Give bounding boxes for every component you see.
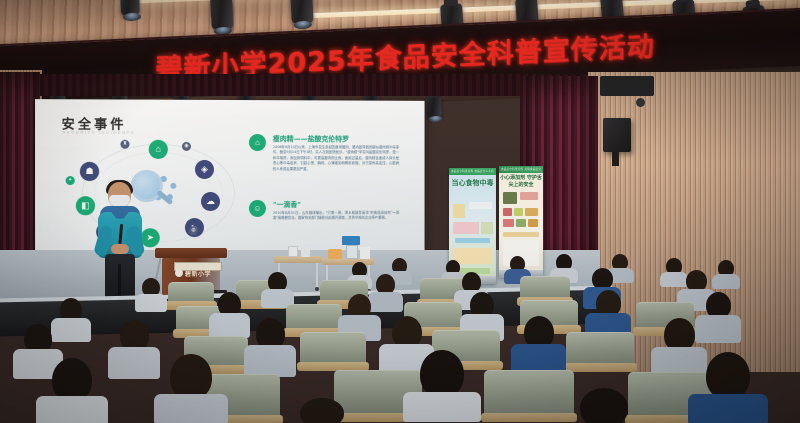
audience-area bbox=[0, 258, 800, 423]
rollup-header-bar: 食品安全科普宣传 食品安全人人有责 bbox=[449, 168, 496, 175]
student-body bbox=[244, 345, 296, 377]
student-head bbox=[420, 350, 464, 398]
stage-light bbox=[120, 0, 140, 16]
star-icon: ✦ bbox=[66, 176, 75, 185]
slide-block-body: 2006年9月13日以来，上海市发生多起因食用猪肉、猪内脏导致的疑似瘦肉精中毒事… bbox=[273, 145, 399, 172]
slide-subtitle: SECURITY INCIDENTS bbox=[63, 130, 136, 135]
rollup-photo bbox=[528, 219, 538, 227]
rollup-text-area bbox=[503, 232, 539, 237]
people-icon: ☗ bbox=[80, 162, 99, 181]
rollup-header-bar: 食品安全科普宣传 共筑食品安全防线 bbox=[499, 166, 543, 173]
student-body bbox=[209, 313, 250, 338]
rollup-title: 当心食物中毒 bbox=[449, 179, 496, 188]
rollup-photo bbox=[525, 208, 538, 216]
rollup-illustration bbox=[455, 238, 490, 243]
security-camera-icon bbox=[636, 98, 645, 107]
cloud-icon: ☁ bbox=[201, 192, 220, 211]
table-display-item bbox=[301, 249, 310, 257]
rollup-illustration bbox=[453, 204, 465, 218]
rollup-header-text: 食品安全科普宣传 共筑食品安全防线 bbox=[501, 167, 541, 171]
auditorium-photo: 碧新小学2025年食品安全科普宣传活动 安全事件 SECURITY INCIDE… bbox=[0, 0, 800, 423]
slide-block-heading: "一滴香" bbox=[273, 200, 301, 210]
rollup-photo bbox=[503, 208, 512, 216]
face-icon: ☺ bbox=[249, 200, 266, 217]
auditorium-seat bbox=[484, 370, 574, 416]
home-icon: ⌂ bbox=[149, 140, 168, 159]
student-head bbox=[580, 388, 628, 423]
student-body bbox=[660, 272, 688, 287]
stage-light bbox=[426, 96, 442, 119]
rollup-photo bbox=[514, 208, 523, 216]
student-body bbox=[135, 294, 167, 312]
student-head bbox=[706, 352, 750, 400]
clock-icon: ◍ bbox=[189, 226, 198, 235]
student-body bbox=[403, 392, 481, 422]
auditorium-seat bbox=[520, 276, 570, 300]
tag-icon: ◧ bbox=[76, 196, 95, 215]
student-body bbox=[154, 394, 228, 423]
auditorium-seat bbox=[300, 332, 366, 365]
projection-screen: 安全事件 SECURITY INCIDENTS ⌂ ◈ ☁ ► ➤ ▤ ◧ ☗ … bbox=[35, 99, 425, 253]
presenter-hands bbox=[111, 244, 129, 254]
table-display-item bbox=[288, 246, 298, 257]
rollup-photo bbox=[503, 219, 514, 227]
student-body bbox=[712, 274, 740, 289]
student-body bbox=[108, 347, 160, 379]
stage-light bbox=[210, 0, 234, 31]
auditorium-seat bbox=[168, 282, 214, 304]
student-head bbox=[300, 398, 344, 423]
table-display-sign bbox=[342, 236, 360, 245]
rollup-title: 小心添加剂 守护舌尖上的安全 bbox=[499, 175, 543, 189]
location-icon: ◉ bbox=[182, 142, 191, 151]
home-icon: ⌂ bbox=[249, 134, 266, 151]
wall-speaker-bracket bbox=[612, 152, 619, 166]
student-body bbox=[368, 292, 403, 312]
student-body bbox=[688, 394, 768, 423]
table-display-item bbox=[346, 245, 358, 259]
rollup-illustration bbox=[453, 222, 479, 234]
rollup-photo bbox=[520, 192, 538, 200]
student-body bbox=[51, 318, 91, 342]
wall-speaker-icon bbox=[603, 118, 631, 152]
podium-top bbox=[155, 248, 227, 258]
lamp-icon: ♜ bbox=[120, 140, 129, 149]
auditorium-seat bbox=[566, 332, 634, 366]
slide-block-body: 2010年8月31日，山东媒体曝出，"只需一滴，清水就能变高汤"的食品添加剂"一… bbox=[273, 211, 399, 222]
projector-unit bbox=[600, 76, 654, 96]
rollup-photo bbox=[516, 219, 526, 227]
auditorium-seat bbox=[286, 304, 342, 331]
student-body bbox=[36, 396, 108, 423]
slide-block-heading: 瘦肉精——盐酸克伦特罗 bbox=[273, 134, 349, 144]
rollup-header-text: 食品安全科普宣传 食品安全人人有责 bbox=[451, 169, 494, 173]
shield-icon: ◈ bbox=[195, 160, 214, 179]
rollup-photo bbox=[503, 192, 517, 204]
rollup-illustration bbox=[481, 222, 493, 234]
stage-light bbox=[290, 0, 314, 25]
rollup-illustration bbox=[469, 202, 492, 209]
stage-valance bbox=[24, 74, 584, 96]
student-body bbox=[695, 315, 741, 343]
